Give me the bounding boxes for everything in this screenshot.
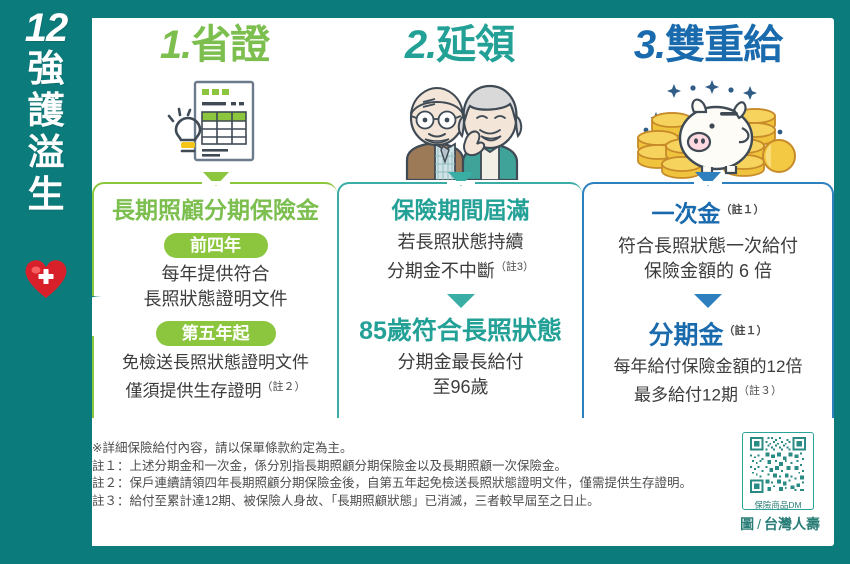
product-char-10: 險 [0,543,92,564]
brand-char-2: 護 [0,90,92,132]
column-3-head: 一次金（註１） [584,196,832,228]
column-3-line-2: 保險金額的 6 倍 [588,259,828,284]
column-2-title: 2.延領 [337,22,582,72]
column-1-block-2-line-2: 僅須提供生存證明（註２） [98,375,333,404]
column-1-frame: 長期照顧分期保險金 前四年 每年提供符合 長照狀態證明文件 第五年起 免檢送長照… [92,182,337,418]
column-1-block-1-text: 每年提供符合 長照狀態證明文件 [94,262,337,312]
column-2-text: 若長照狀態持續 分期金不中斷（註3） [339,230,582,284]
column-2-notch-cover [447,181,475,185]
left-sidebar: 12 強 護 溢 生 長 期 照 顧 定 期 健 康 保 險 [0,0,92,564]
column-1-notch-cover [202,181,230,185]
credit-icon-char: 圖 [740,516,754,532]
column-3-head-text: 一次金 [652,201,721,227]
column-1-number: 1. [160,23,191,67]
brand-block: 12 強 護 溢 生 [0,8,92,216]
product-char-1: 長 [0,318,92,343]
column-3-mid-line-1: 每年給付保險金額的12倍 [588,354,828,379]
column-2-note-ref: （註3） [495,261,534,273]
arrow-down-icon [447,294,475,308]
column-3-mid-line-note-ref: （註３） [738,385,782,397]
credit-slash: / [754,516,764,532]
column-3-mid-head: 分期金（註１） [584,316,832,350]
column-3-mid-text: 每年給付保險金額的12倍 最多給付12期（註３） [584,354,832,408]
column-3-line-1: 符合長照狀態一次給付 [588,234,828,259]
product-char-8: 康 [0,493,92,518]
column-3-mid-note-ref: （註１） [724,325,768,337]
column-1-title: 1.省證 [92,22,337,72]
column-1-pill-2: 第五年起 [156,321,276,346]
column-1-pill-1: 前四年 [164,233,268,258]
column-2-head: 保險期間屆滿 [339,196,582,224]
qr-code-icon [750,437,806,493]
product-name-vertical: 長 期 照 顧 定 期 健 康 保 險 [0,318,92,564]
column-3-title-text: 雙重給 [665,23,782,67]
qr-label: 保險商品DM [743,499,813,511]
column-1-block-2-text: 免檢送長照狀態證明文件 僅須提供生存證明（註２） [94,350,337,404]
brand-char-4: 生 [0,174,92,216]
heart-cross-icon [0,258,92,305]
column-2-mid-text: 分期金最長給付 至96歲 [339,350,582,400]
column-1-head: 長期照顧分期保險金 [94,196,337,224]
brand-char-1: 強 [0,48,92,90]
piggy-bank-coins-icon [582,72,834,180]
column-2-mid-line-1: 分期金最長給付 [343,350,578,375]
column-2-number: 2. [405,23,436,67]
column-1-block-1-line-2: 長照狀態證明文件 [98,287,333,312]
brand-number: 12 [0,8,92,48]
column-3-mid-head-text: 分期金 [648,321,723,349]
column-2-mid-head: 85歲符合長照狀態 [339,316,582,346]
footnotes: ※詳細保險給付內容，請以保單條款約定為主。 註１：上述分期金和一次金，係分別指長… [92,440,712,510]
brand-char-3: 溢 [0,132,92,174]
benefit-column-2: 2.延領 [337,22,582,432]
product-char-4: 顧 [0,393,92,418]
column-3-head-note-ref: （註１） [721,204,765,216]
column-1-title-text: 省證 [191,23,269,67]
product-char-9: 保 [0,518,92,543]
column-2-mid-line-2: 至96歲 [343,375,578,400]
column-3-text: 符合長照狀態一次給付 保險金額的 6 倍 [584,234,832,284]
product-char-3: 照 [0,368,92,393]
column-1-block-2-line-1: 免檢送長照狀態證明文件 [98,350,333,375]
footnote-disclaimer: ※詳細保險給付內容，請以保單條款約定為主。 [92,440,712,458]
footnote-1: 註１：上述分期金和一次金，係分別指長期照顧分期保險金以及長期照顧一次保險金。 [92,458,712,476]
product-char-5: 定 [0,418,92,443]
image-credit: 圖/台灣人壽 [700,514,820,534]
qr-code-block[interactable]: 保險商品DM [742,432,814,510]
column-2-title-text: 延領 [436,23,514,67]
column-2-frame: 保險期間屆滿 若長照狀態持續 分期金不中斷（註3） 85歲符合長照狀態 分期金最… [337,182,582,418]
column-3-mid-line-2: 最多給付12期（註３） [588,379,828,408]
product-char-6: 期 [0,443,92,468]
column-3-notch-cover [694,181,722,185]
product-char-7: 健 [0,468,92,493]
column-3-number: 3. [634,23,665,67]
benefit-column-3: 3.雙重給 [582,22,834,432]
benefit-columns: 1.省證 [92,22,834,432]
arrow-down-icon [694,294,722,308]
footnote-2: 註２：保戶連續請領四年長期照顧分期保險金後，自第五年起免檢送長照狀態證明文件，僅… [92,475,712,493]
column-2-line-2: 分期金不中斷（註3） [343,255,578,284]
footnote-3: 註３：給付至累計達12期、被保險人身故、「長期照顧狀態」已消滅，三者較早屆至之日… [92,493,712,511]
column-2-line-1: 若長照狀態持續 [343,230,578,255]
credit-source: 台灣人壽 [764,516,820,532]
column-3-mid-line-2-text: 最多給付12期 [634,386,738,405]
column-1-note-ref: （註２） [262,381,306,393]
column-3-title: 3.雙重給 [582,22,834,72]
product-char-2: 期 [0,343,92,368]
document-lightbulb-icon [92,72,337,180]
column-1-block-2-line-2-text: 僅須提供生存證明 [126,382,262,401]
column-3-frame: 一次金（註１） 符合長照狀態一次給付 保險金額的 6 倍 分期金（註１） 每年給… [582,182,834,418]
elderly-couple-icon [337,72,582,180]
column-1-block-1-line-1: 每年提供符合 [98,262,333,287]
column-2-line-2-text: 分期金不中斷 [387,261,495,281]
infographic-root: 12 強 護 溢 生 長 期 照 顧 定 期 健 康 保 險 [0,0,850,564]
benefit-column-1: 1.省證 [92,22,337,432]
